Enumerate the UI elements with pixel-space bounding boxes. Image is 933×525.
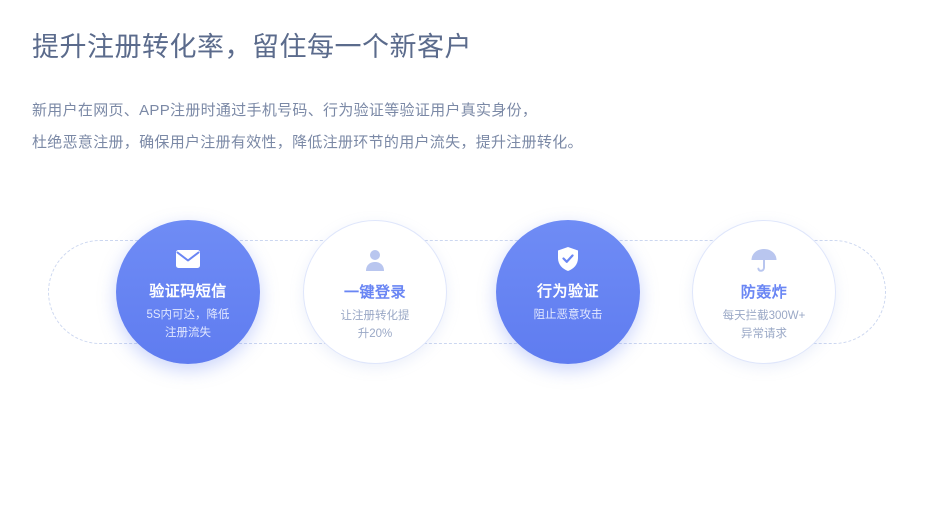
- page-root: 提升注册转化率，留住每一个新客户 新用户在网页、APP注册时通过手机号码、行为验…: [0, 0, 933, 525]
- step-desc-1: 5S内可达，降低 注册流失: [133, 306, 243, 342]
- step-title-3: 行为验证: [537, 280, 599, 301]
- shield-check-icon: [557, 246, 579, 272]
- step-desc-2: 让注册转化提 升20%: [320, 307, 430, 343]
- step-title-4: 防轰炸: [741, 281, 788, 302]
- step-title-1: 验证码短信: [149, 280, 227, 301]
- step-card-1[interactable]: 验证码短信 5S内可达，降低 注册流失: [116, 220, 260, 364]
- step-card-3[interactable]: 行为验证 阻止恶意攻击: [496, 220, 640, 364]
- step-desc-1-line-2: 注册流失: [133, 324, 243, 342]
- step-title-2: 一键登录: [344, 281, 406, 302]
- steps-container: 验证码短信 5S内可达，降低 注册流失 一键登录 让注册转化提 升20%: [0, 0, 933, 525]
- umbrella-icon: [750, 247, 778, 273]
- step-card-2[interactable]: 一键登录 让注册转化提 升20%: [303, 220, 447, 364]
- step-desc-4-line-1: 每天拦截300W+: [709, 307, 819, 325]
- step-desc-1-line-1: 5S内可达，降低: [133, 306, 243, 324]
- step-card-4[interactable]: 防轰炸 每天拦截300W+ 异常请求: [692, 220, 836, 364]
- envelope-icon: [175, 246, 201, 272]
- step-desc-4-line-2: 异常请求: [709, 325, 819, 343]
- step-desc-3: 阻止恶意攻击: [513, 306, 623, 324]
- user-icon: [364, 247, 386, 273]
- step-desc-2-line-1: 让注册转化提: [320, 307, 430, 325]
- step-desc-3-line-1: 阻止恶意攻击: [513, 306, 623, 324]
- step-desc-2-line-2: 升20%: [320, 325, 430, 343]
- step-desc-4: 每天拦截300W+ 异常请求: [709, 307, 819, 343]
